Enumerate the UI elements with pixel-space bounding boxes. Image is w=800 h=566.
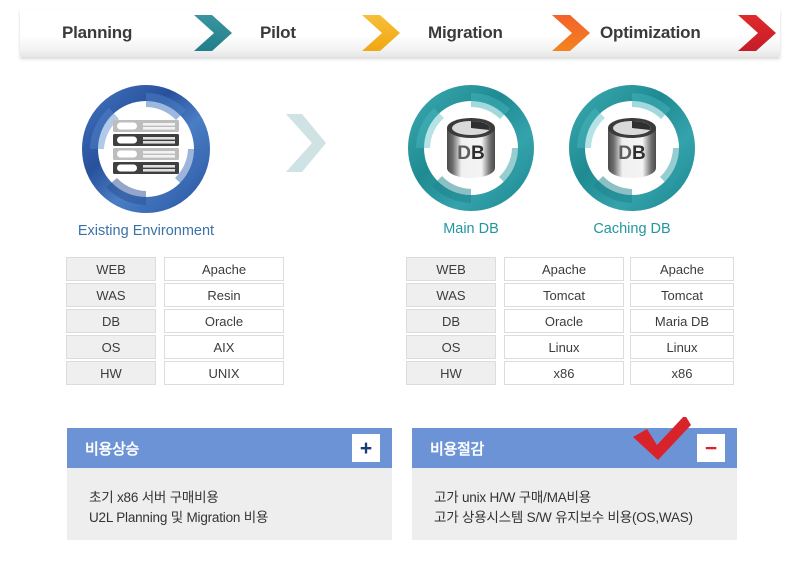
row-value: Apache <box>504 257 624 281</box>
table-row: DB Oracle <box>406 309 624 333</box>
row-value: Linux <box>630 335 734 359</box>
cell-gap <box>156 257 164 281</box>
phase-planning[interactable]: Planning <box>62 9 132 57</box>
phase-label: Migration <box>428 23 503 43</box>
existing-environment-ring <box>81 84 211 214</box>
phase-banner: Planning Pilot Migration Opti <box>20 9 780 57</box>
row-value: Oracle <box>504 309 624 333</box>
node-main-db[interactable]: DB Main DB <box>405 84 537 237</box>
row-value: x86 <box>504 361 624 385</box>
table-row: DB Oracle <box>66 309 284 333</box>
cell-gap <box>496 283 504 307</box>
panel-title: 비용상승 <box>85 438 139 459</box>
row-value: Tomcat <box>630 283 734 307</box>
panel-line: 초기 x86 서버 구매비용 <box>89 488 392 508</box>
checkmark-icon <box>631 417 693 463</box>
phase-pilot[interactable]: Pilot <box>260 9 296 57</box>
table-row: HW UNIX <box>66 361 284 385</box>
phase-optimization[interactable]: Optimization <box>600 9 701 57</box>
row-value: UNIX <box>164 361 284 385</box>
row-key: WAS <box>66 283 156 307</box>
panel-line: 고가 상용시스템 S/W 유지보수 비용(OS,WAS) <box>434 508 737 528</box>
cell-gap <box>496 335 504 359</box>
table-row: Linux <box>630 335 734 359</box>
panel-title: 비용절감 <box>430 438 484 459</box>
cell-gap <box>156 361 164 385</box>
svg-text:DB: DB <box>457 143 484 164</box>
row-value: Linux <box>504 335 624 359</box>
phase-migration[interactable]: Migration <box>428 9 503 57</box>
row-value: Apache <box>164 257 284 281</box>
node-caching-db[interactable]: DB Caching DB <box>566 84 698 237</box>
cell-gap <box>496 309 504 333</box>
cell-gap <box>156 335 164 359</box>
row-key: OS <box>66 335 156 359</box>
phase-label: Optimization <box>600 23 701 43</box>
table-row: Maria DB <box>630 309 734 333</box>
main-db-ring: DB <box>407 84 535 212</box>
table-row: WAS Tomcat <box>406 283 624 307</box>
minus-badge[interactable]: − <box>697 434 725 462</box>
spec-table-caching-db: Apache Tomcat Maria DB Linux x86 <box>630 255 734 387</box>
row-key: DB <box>406 309 496 333</box>
chevron-planning-icon <box>192 13 236 53</box>
table-row: HW x86 <box>406 361 624 385</box>
phase-label: Planning <box>62 23 132 43</box>
row-value: x86 <box>630 361 734 385</box>
panel-header: 비용상승 + <box>67 428 392 468</box>
table-row: WAS Resin <box>66 283 284 307</box>
cell-gap <box>496 361 504 385</box>
spec-table-main-db: WEB Apache WAS Tomcat DB Oracle OS Linux… <box>406 255 624 387</box>
table-row: Tomcat <box>630 283 734 307</box>
caching-db-ring: DB <box>568 84 696 212</box>
table-row: OS Linux <box>406 335 624 359</box>
row-key: OS <box>406 335 496 359</box>
table-row: Apache <box>630 257 734 281</box>
flow-arrow-icon <box>282 112 328 179</box>
row-key: HW <box>406 361 496 385</box>
table-row: WEB Apache <box>66 257 284 281</box>
table-row: WEB Apache <box>406 257 624 281</box>
row-value: Apache <box>630 257 734 281</box>
cell-gap <box>156 283 164 307</box>
database-icon: DB <box>605 118 659 178</box>
panel-header: 비용절감 − <box>412 428 737 468</box>
node-label: Caching DB <box>593 221 670 237</box>
node-existing-environment[interactable]: Existing Environment <box>76 84 216 239</box>
row-value: Oracle <box>164 309 284 333</box>
panel-line: U2L Planning 및 Migration 비용 <box>89 508 392 528</box>
node-label: Existing Environment <box>78 223 214 239</box>
row-value: AIX <box>164 335 284 359</box>
row-value: Maria DB <box>630 309 734 333</box>
chevron-pilot-icon <box>360 13 404 53</box>
row-key: DB <box>66 309 156 333</box>
panel-cost-savings[interactable]: 비용절감 − 고가 unix H/W 구매/MA비용 고가 상용시스템 S/W … <box>412 428 737 540</box>
panel-cost-increase[interactable]: 비용상승 + 초기 x86 서버 구매비용 U2L Planning 및 Mig… <box>67 428 392 540</box>
database-icon: DB <box>444 118 498 178</box>
phase-label: Pilot <box>260 23 296 43</box>
table-row: OS AIX <box>66 335 284 359</box>
svg-text:DB: DB <box>618 143 645 164</box>
server-rack-icon <box>113 120 179 178</box>
spec-table-existing: WEB Apache WAS Resin DB Oracle OS AIX HW… <box>66 255 284 387</box>
table-row: x86 <box>630 361 734 385</box>
chevron-optimization-icon <box>736 13 780 53</box>
plus-badge[interactable]: + <box>352 434 380 462</box>
row-key: HW <box>66 361 156 385</box>
cell-gap <box>496 257 504 281</box>
row-key: WEB <box>406 257 496 281</box>
panel-line: 고가 unix H/W 구매/MA비용 <box>434 488 737 508</box>
row-key: WEB <box>66 257 156 281</box>
row-key: WAS <box>406 283 496 307</box>
row-value: Resin <box>164 283 284 307</box>
cell-gap <box>156 309 164 333</box>
panel-body: 고가 unix H/W 구매/MA비용 고가 상용시스템 S/W 유지보수 비용… <box>412 468 737 540</box>
row-value: Tomcat <box>504 283 624 307</box>
chevron-migration-icon <box>550 13 594 53</box>
node-label: Main DB <box>443 221 499 237</box>
panel-body: 초기 x86 서버 구매비용 U2L Planning 및 Migration … <box>67 468 392 540</box>
